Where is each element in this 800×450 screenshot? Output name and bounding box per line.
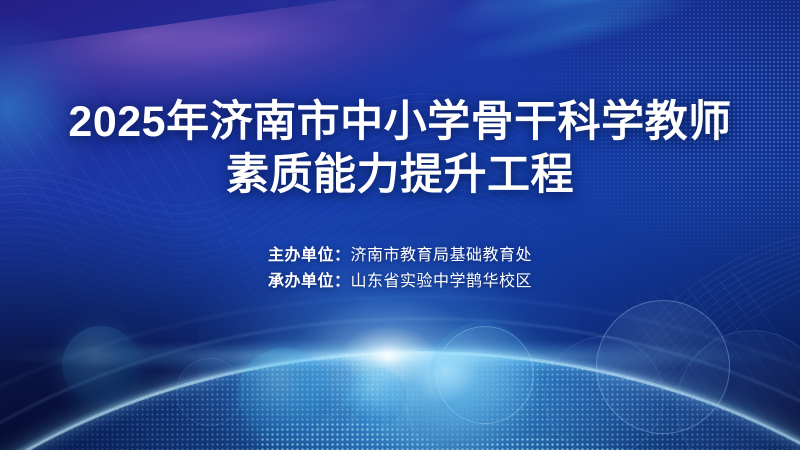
slide-title: 2025年济南市中小学骨干科学教师 素质能力提升工程 <box>0 96 800 202</box>
credit-organizer-label: 主办单位： <box>268 247 351 264</box>
credit-organizer: 主办单位：济南市教育局基础教育处 <box>0 243 800 269</box>
presentation-slide: 2025年济南市中小学骨干科学教师 素质能力提升工程 主办单位：济南市教育局基础… <box>0 0 800 450</box>
slide-content: 2025年济南市中小学骨干科学教师 素质能力提升工程 主办单位：济南市教育局基础… <box>0 0 800 450</box>
title-line-1: 2025年济南市中小学骨干科学教师 <box>0 96 800 149</box>
credit-host-label: 承办单位： <box>268 273 351 290</box>
title-line-2: 素质能力提升工程 <box>0 149 800 202</box>
credit-host: 承办单位：山东省实验中学鹊华校区 <box>0 269 800 295</box>
slide-credits: 主办单位：济南市教育局基础教育处 承办单位：山东省实验中学鹊华校区 <box>0 243 800 295</box>
credit-organizer-value: 济南市教育局基础教育处 <box>351 247 533 264</box>
credit-host-value: 山东省实验中学鹊华校区 <box>351 273 533 290</box>
